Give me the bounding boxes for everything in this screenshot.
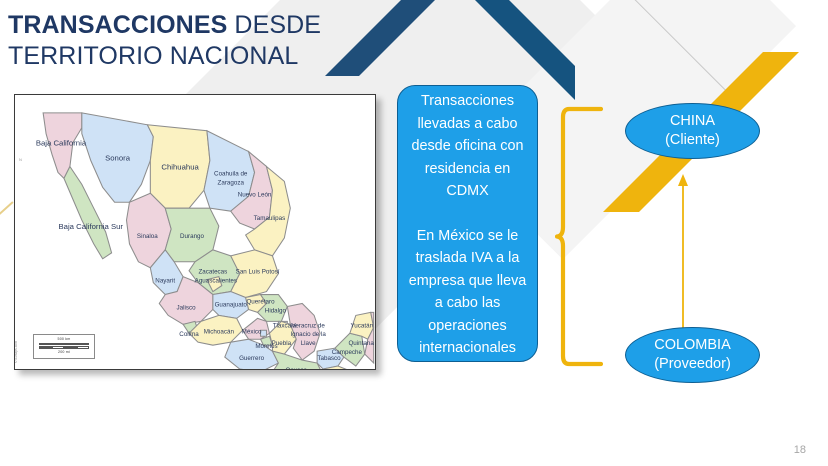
node-colombia[interactable]: COLOMBIA (Proveedor) [625, 327, 760, 383]
map-latitude-tick: N [19, 157, 22, 162]
svg-text:Durango: Durango [180, 233, 204, 240]
svg-text:Querétaro: Querétaro [246, 298, 275, 305]
svg-text:Llave: Llave [301, 340, 316, 347]
svg-text:Chihuahua: Chihuahua [161, 162, 199, 171]
svg-text:México: México [242, 328, 262, 335]
node-colombia-role: (Proveedor) [654, 355, 731, 374]
svg-text:Oaxaca: Oaxaca [285, 367, 307, 369]
svg-text:Sonora: Sonora [105, 154, 131, 163]
svg-text:Nuevo León: Nuevo León [238, 191, 272, 198]
svg-text:Campeche: Campeche [332, 349, 363, 356]
svg-text:Nayarit: Nayarit [155, 278, 175, 285]
svg-text:Baja California Sur: Baja California Sur [59, 222, 124, 231]
node-colombia-name: COLOMBIA [654, 336, 731, 355]
svg-text:Ignacio de la: Ignacio de la [290, 331, 326, 338]
callout-paragraph-2: En México se le traslada IVA a la empres… [403, 225, 532, 360]
svg-text:Coahuila de: Coahuila de [214, 170, 248, 177]
decorative-grey-hairline [595, 0, 729, 94]
svg-text:Tamaulipas: Tamaulipas [254, 215, 286, 222]
svg-text:Hidalgo: Hidalgo [265, 307, 287, 314]
svg-text:Colima: Colima [179, 331, 199, 338]
map-scale-segments-mi [39, 346, 89, 349]
map-scale-bottom-label: 200 mi [36, 350, 92, 355]
svg-text:Zaragoza: Zaragoza [218, 179, 245, 186]
svg-text:Baja California: Baja California [36, 139, 87, 148]
svg-text:Veracruz de: Veracruz de [291, 322, 325, 329]
svg-text:Michoacán: Michoacán [204, 328, 235, 335]
map-scale-segments-km [39, 343, 89, 346]
svg-text:Quintana Roo: Quintana Roo [348, 340, 375, 347]
node-china-role: (Cliente) [665, 131, 720, 150]
svg-text:Aguascalientes: Aguascalientes [195, 278, 237, 285]
curly-brace-icon [555, 105, 603, 368]
svg-text:Guanajuato: Guanajuato [215, 301, 248, 308]
svg-text:Zacatecas: Zacatecas [198, 269, 227, 276]
decorative-gold-hairline-left [0, 201, 14, 233]
map-scale-top-label: 500 km [36, 337, 92, 342]
svg-text:San Luis Potosí: San Luis Potosí [236, 269, 280, 276]
callout-paragraph-1: Transacciones llevadas a cabo desde ofic… [403, 90, 532, 203]
node-china-name: CHINA [670, 112, 715, 131]
map-scale-bar: 500 km 200 mi [33, 334, 95, 359]
svg-text:Yucatán: Yucatán [350, 322, 373, 329]
mexico-map-panel: Baja California Baja California Sur Sono… [14, 94, 376, 370]
page-number: 18 [794, 444, 806, 456]
node-china[interactable]: CHINA (Cliente) [625, 103, 760, 159]
page-title-bold: TRANSACCIONES [8, 11, 227, 39]
mexico-map-svg: Baja California Baja California Sur Sono… [15, 95, 375, 369]
slide-canvas: TRANSACCIONES DESDE TERRITORIO NACIONAL [0, 0, 828, 466]
svg-text:Puebla: Puebla [272, 340, 292, 347]
arrow-up-icon [672, 172, 694, 332]
callout-box-transacciones: Transacciones llevadas a cabo desde ofic… [397, 85, 538, 362]
svg-text:Guerrero: Guerrero [239, 355, 265, 362]
svg-text:Sinaloa: Sinaloa [137, 233, 158, 240]
callout-spacer [403, 203, 532, 225]
svg-text:Jalisco: Jalisco [177, 304, 197, 311]
page-title: TRANSACCIONES DESDE TERRITORIO NACIONAL [8, 10, 478, 72]
map-credit: © d-maps.com [14, 341, 18, 363]
